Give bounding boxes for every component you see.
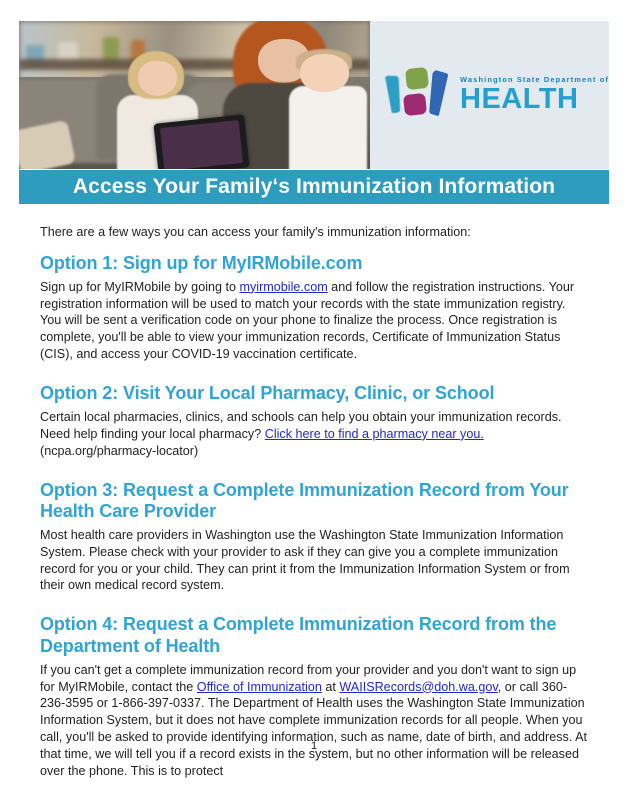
option-section: Option 1: Sign up for MyIRMobile.comSign…: [40, 253, 588, 363]
option-heading: Option 4: Request a Complete Immunizatio…: [40, 614, 588, 656]
inline-link[interactable]: Office of Immunization: [197, 680, 322, 694]
page-number: 1: [0, 740, 628, 752]
option-section: Option 2: Visit Your Local Pharmacy, Cli…: [40, 383, 588, 460]
option-heading: Option 2: Visit Your Local Pharmacy, Cli…: [40, 383, 588, 404]
paragraph-text: (ncpa.org/pharmacy-locator): [40, 444, 198, 458]
family-photo: [19, 21, 370, 169]
paragraph-text: Sign up for MyIRMobile by going to: [40, 280, 240, 294]
paragraph-text: , or call 360-236-3595 or 1-866-397-0337…: [40, 680, 587, 778]
option-section: Option 3: Request a Complete Immunizatio…: [40, 480, 588, 595]
option-paragraph: Sign up for MyIRMobile by going to myirm…: [40, 279, 588, 363]
photo-baby-body: [289, 86, 366, 169]
option-paragraph: If you can't get a complete immunization…: [40, 662, 588, 780]
inline-link[interactable]: WAIISRecords@doh.wa.gov: [339, 680, 497, 694]
document-content: There are a few ways you can access your…: [40, 224, 588, 799]
option-paragraph: Most health care providers in Washington…: [40, 527, 588, 594]
logo-subtitle: Washington State Department of: [460, 76, 609, 84]
photo-baby-head: [300, 54, 349, 92]
doh-logo-panel: Washington State Department of HEALTH: [370, 21, 609, 169]
option-section: Option 4: Request a Complete Immunizatio…: [40, 614, 588, 779]
logo-title: HEALTH: [460, 86, 609, 114]
intro-paragraph: There are a few ways you can access your…: [40, 224, 588, 241]
photo-tablet: [153, 114, 249, 169]
option-heading: Option 1: Sign up for MyIRMobile.com: [40, 253, 588, 274]
option-heading: Option 3: Request a Complete Immunizatio…: [40, 480, 588, 522]
logo-magenta-square-icon: [403, 93, 427, 116]
paragraph-text: at: [322, 680, 340, 694]
header-band: Washington State Department of HEALTH: [19, 21, 609, 169]
logo-teal-shape-icon: [384, 75, 403, 115]
inline-link[interactable]: myirmobile.com: [240, 280, 328, 294]
logo-green-square-icon: [405, 67, 429, 90]
options-list: Option 1: Sign up for MyIRMobile.comSign…: [40, 253, 588, 780]
page-title-banner: Access Your Family‘s Immunization Inform…: [19, 170, 609, 204]
inline-link[interactable]: Click here to find a pharmacy near you.: [265, 427, 484, 441]
paragraph-text: Most health care providers in Washington…: [40, 528, 570, 592]
logo-blue-shape-icon: [427, 69, 448, 117]
option-paragraph: Certain local pharmacies, clinics, and s…: [40, 409, 588, 459]
doh-logo-mark-icon: [384, 64, 448, 120]
doh-logo-wordmark: Washington State Department of HEALTH: [460, 76, 609, 114]
